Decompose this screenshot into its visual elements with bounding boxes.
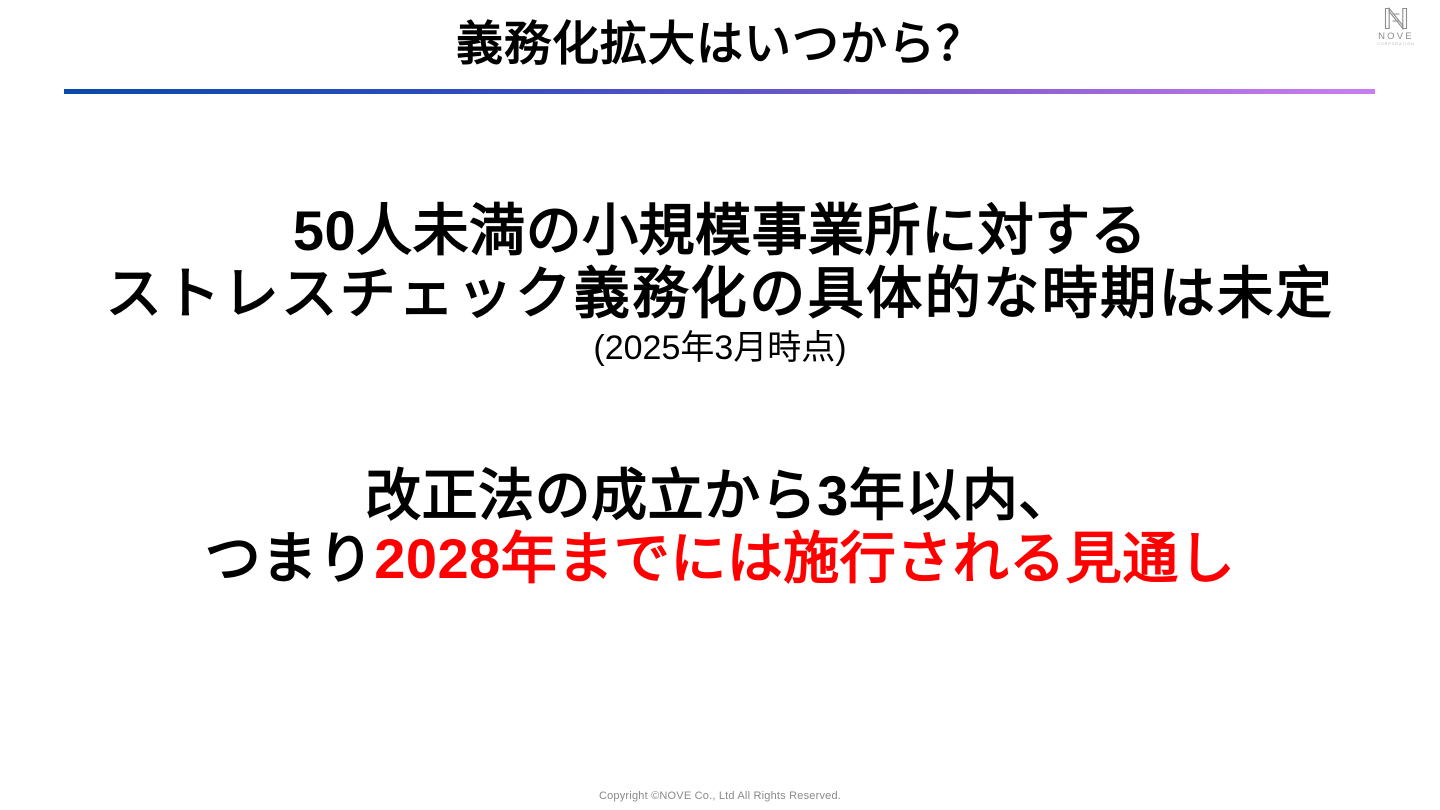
logo-subtext: CORPORATION <box>1377 43 1415 47</box>
outlook-line-2: つまり2028年までには施行される見通し <box>0 528 1440 591</box>
statement-block-primary: 50人未満の小規模事業所に対する ストレスチェック義務化の具体的な時期は未定 (… <box>0 200 1440 370</box>
slide-canvas: 義務化拡大はいつから？ NOVE CORPORATION 50人未満の小規模事業… <box>0 0 1440 810</box>
statement-asof-note: (2025年3月時点) <box>0 327 1440 370</box>
statement-block-secondary: 改正法の成立から3年以内、 つまり2028年までには施行される見通し <box>0 465 1440 590</box>
page-title: 義務化拡大はいつから？ <box>0 18 1440 70</box>
footer-copyright: Copyright ©NOVE Co., Ltd All Rights Rese… <box>0 790 1440 802</box>
outlook-line-2-prefix: つまり <box>205 527 375 590</box>
statement-line-2: ストレスチェック義務化の具体的な時期は未定 <box>0 263 1440 326</box>
outlook-line-2-highlight: 2028年までには施行される見通し <box>374 527 1235 590</box>
nove-logo: NOVE CORPORATION <box>1368 6 1424 54</box>
nove-monogram-icon <box>1383 6 1409 30</box>
statement-line-1: 50人未満の小規模事業所に対する <box>0 200 1440 263</box>
logo-wordmark: NOVE <box>1378 32 1414 42</box>
title-divider-rule <box>64 89 1375 94</box>
outlook-line-1: 改正法の成立から3年以内、 <box>0 465 1440 528</box>
